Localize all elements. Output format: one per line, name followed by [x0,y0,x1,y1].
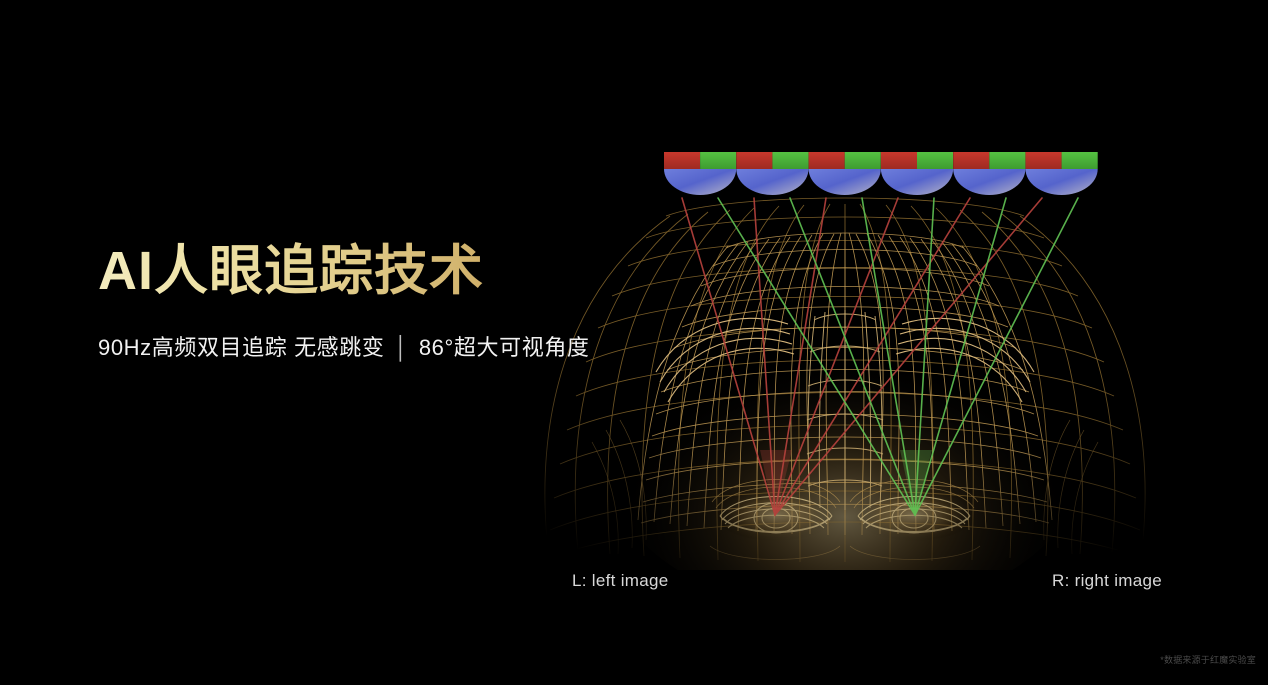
subtitle-part-1: 90Hz高频双目追踪 无感跳变 [98,335,384,360]
caption-right-image: R: right image [1052,571,1162,591]
headline-block: AI人眼追踪技术 90Hz高频双目追踪 无感跳变│86°超大可视角度 [98,240,618,362]
footnote-disclaimer: *数据来源于红魔实验室 [1160,653,1256,666]
subtitle-separator: │ [384,335,418,360]
slide-root: AI人眼追踪技术 90Hz高频双目追踪 无感跳变│86°超大可视角度 L: le… [0,0,1268,685]
page-title: AI人眼追踪技术 [98,240,618,304]
subtitle-part-2: 86°超大可视角度 [419,335,590,360]
page-subtitle: 90Hz高频双目追踪 无感跳变│86°超大可视角度 [98,304,618,362]
lenticular-lens-array [664,152,1098,198]
caption-left-image: L: left image [572,571,669,591]
